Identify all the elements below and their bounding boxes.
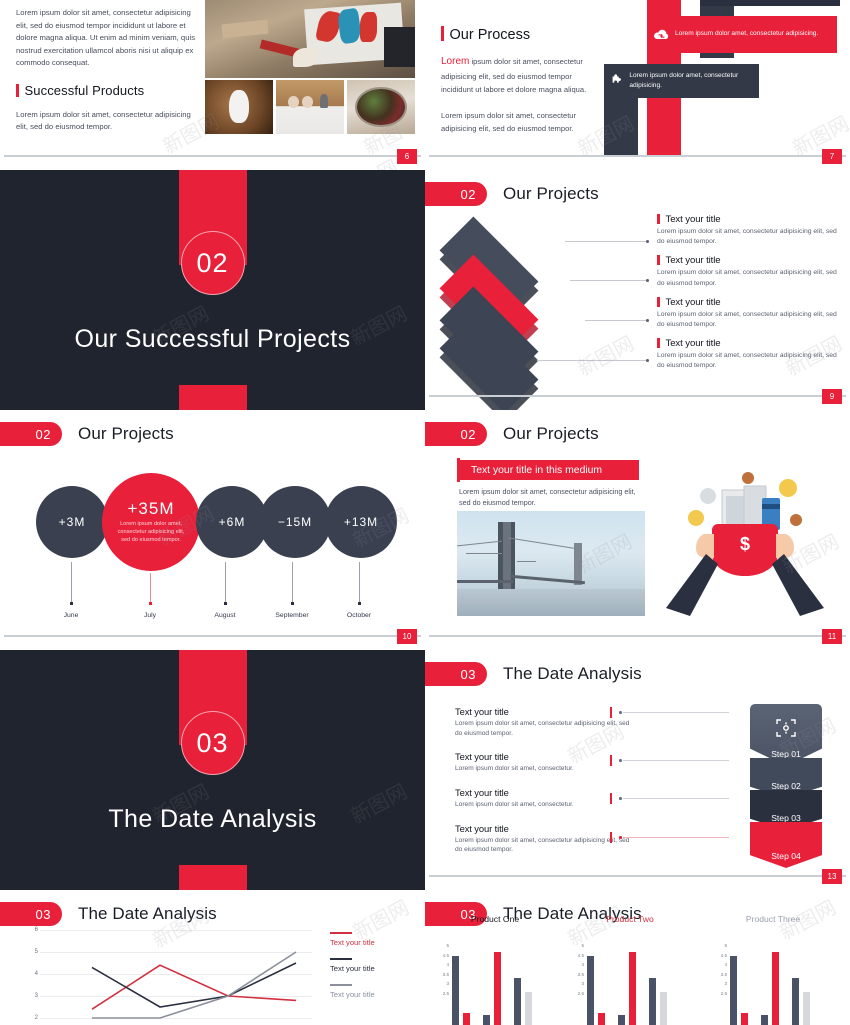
y-tick-label: 5 xyxy=(26,949,38,955)
slide-footer-rule xyxy=(429,155,846,157)
red-accent-bar-icon xyxy=(610,793,612,804)
list-item: Text your title Lorem ipsum dolor sit am… xyxy=(657,338,837,371)
svg-text:$: $ xyxy=(740,534,750,554)
page-number-badge: 7 xyxy=(822,149,842,164)
connector-line xyxy=(537,360,647,361)
bar xyxy=(618,1015,625,1025)
y-tick-label: 2.5 xyxy=(570,992,584,1002)
slide-10-title: Our Projects xyxy=(78,424,174,444)
bar xyxy=(587,956,594,1025)
connector-dot xyxy=(646,319,649,322)
bar xyxy=(494,952,501,1025)
list-item: Text your title Lorem ipsum dolor sit am… xyxy=(657,255,837,288)
connector-line xyxy=(623,798,729,799)
list-item-title: Text your title xyxy=(657,297,837,308)
slide-8-section-divider[interactable]: 02 Our Successful Projects 新图网 新图网 xyxy=(0,170,425,410)
timeline-node: −15M xyxy=(259,486,331,558)
line-chart: 6 5 4 3 2 xyxy=(22,930,312,1025)
puzzle-piece-icon xyxy=(604,73,629,89)
bar xyxy=(483,1015,490,1025)
bar-group-title: Product Two xyxy=(570,914,690,924)
list-item-text: Lorem ipsum dolor sit amet, consectetur … xyxy=(657,227,837,247)
legend-swatch xyxy=(330,984,352,986)
page-number-badge: 13 xyxy=(822,869,842,884)
bar xyxy=(629,952,636,1025)
y-tick-label: 2 xyxy=(26,1015,38,1021)
slide-14-header: 03 The Date Analysis xyxy=(0,902,217,926)
red-accent-bar-icon xyxy=(610,832,612,843)
slide-9-number-pill: 02 xyxy=(425,182,487,206)
slide-15[interactable]: 03 The Date Analysis Product One 5 4.5 4… xyxy=(425,890,850,1025)
slide-13-title: The Date Analysis xyxy=(503,664,642,684)
timeline-dot xyxy=(149,602,152,605)
page-number-badge: 9 xyxy=(822,389,842,404)
section-title: The Date Analysis xyxy=(0,805,425,834)
step-item-label: Step 04 xyxy=(771,851,801,861)
page-number-badge: 11 xyxy=(822,629,842,644)
y-tick-label: 6 xyxy=(26,927,38,933)
timeline-label: June xyxy=(36,612,106,619)
section-number-badge: 02 xyxy=(181,231,245,295)
list-item-title: Text your title xyxy=(455,706,630,717)
timeline-stem xyxy=(150,573,151,602)
page-number-badge: 6 xyxy=(397,149,417,164)
legend-swatch xyxy=(330,932,352,934)
bar xyxy=(463,1013,470,1025)
slide-11[interactable]: 02 Our Projects Text your title in this … xyxy=(425,410,850,650)
y-tick-label: 2.5 xyxy=(713,992,727,1002)
red-accent-bar-icon xyxy=(657,255,660,265)
connector-dot xyxy=(619,836,622,839)
list-item-title: Text your title xyxy=(455,751,630,762)
slide-14-title: The Date Analysis xyxy=(78,904,217,924)
timeline-label: July xyxy=(115,612,185,619)
connector-dot xyxy=(619,797,622,800)
timeline-dot xyxy=(70,602,73,605)
timeline-node-highlight: +35MLorem ipsum dolor amet, consectetur … xyxy=(102,473,200,571)
bars xyxy=(587,944,690,1025)
bar xyxy=(741,1013,748,1025)
list-item: Text your title Lorem ipsum dolor sit am… xyxy=(657,297,837,330)
timeline-stem xyxy=(292,562,293,602)
slide-footer-rule xyxy=(4,155,421,157)
slide-14-number-pill: 03 xyxy=(0,902,62,926)
page-number-badge: 10 xyxy=(397,629,417,644)
connector-line xyxy=(623,837,729,838)
list-item: Text your title Lorem ipsum dolor sit am… xyxy=(455,751,630,774)
step-funnel: Step 01 Step 02 Step 03 Step 04 xyxy=(750,704,822,868)
bar-chart-group-2: Product Two 5 4.5 4 3.5 3 2.5 xyxy=(570,930,690,1025)
slide-9-item-list: Text your title Lorem ipsum dolor sit am… xyxy=(657,214,837,378)
slide-footer-rule xyxy=(429,635,846,637)
section-title: Our Successful Projects xyxy=(0,325,425,354)
slide-7-card-top xyxy=(700,0,840,6)
slide-7-card-red: Lorem ipsum dolor amet, consectetur adip… xyxy=(647,16,837,53)
bar-chart-group-1: Product One 5 4.5 4 3.5 3 2.5 xyxy=(435,930,555,1025)
slide-6-photo-thumbnails xyxy=(205,80,415,134)
slide-6-paragraph-1: Lorem ipsum dolor sit amet, consectetur … xyxy=(16,7,196,70)
slide-11-title: Our Projects xyxy=(503,424,599,444)
list-item-title: Text your title xyxy=(455,787,630,798)
slide-11-number-pill: 02 xyxy=(425,422,487,446)
red-ribbon-bottom xyxy=(179,385,247,410)
bar-group-title: Product Three xyxy=(713,914,833,924)
y-tick-label: 4 xyxy=(26,971,38,977)
list-item-title: Text your title xyxy=(657,255,837,266)
bar xyxy=(660,992,667,1025)
list-item-text: Lorem ipsum dolor sit amet, consectetur … xyxy=(657,268,837,288)
slide-13-header: 03 The Date Analysis xyxy=(425,662,642,686)
thumbnail-desk-photo xyxy=(276,80,344,134)
timeline-label: October xyxy=(324,612,394,619)
list-item: Text your title Lorem ipsum dolor sit am… xyxy=(455,787,630,810)
red-accent-bar-icon xyxy=(657,338,660,348)
thumbnail-bowl-photo xyxy=(347,80,415,134)
step-item-label: Step 01 xyxy=(771,749,801,759)
bar xyxy=(772,952,779,1025)
step-item-label: Step 02 xyxy=(771,781,801,791)
line-chart-series xyxy=(40,930,312,1025)
legend-swatch xyxy=(330,958,352,960)
slide-9[interactable]: 02 Our Projects Text your title Lorem ip… xyxy=(425,170,850,410)
legend-item: Text your title xyxy=(330,932,420,947)
step-item-1[interactable]: Step 01 xyxy=(750,704,822,766)
red-ribbon-bottom xyxy=(179,865,247,890)
bars xyxy=(452,944,555,1025)
slide-13-number-pill: 03 xyxy=(425,662,487,686)
list-item-text: Lorem ipsum dolor sit amet, consectetur. xyxy=(455,800,630,810)
y-axis-labels: 5 4.5 4 3.5 3 2.5 xyxy=(435,944,449,1002)
timeline-dot xyxy=(358,602,361,605)
slide-thumbnail-grid: Lorem ipsum dolor sit amet, consectetur … xyxy=(0,0,850,1025)
bars xyxy=(730,944,833,1025)
slide-7-paragraph-2: Lorem ipsum dolor sit amet, consectetur … xyxy=(441,110,601,136)
legend-item: Text your title xyxy=(330,958,420,973)
focus-target-icon xyxy=(774,716,798,742)
bar xyxy=(649,978,656,1025)
bar xyxy=(514,978,521,1025)
red-accent-bar-icon xyxy=(16,84,19,97)
slide-7-card-dark-text: Lorem ipsum dolor amet, consectetur adip… xyxy=(629,71,759,91)
list-item-title: Text your title xyxy=(657,214,837,225)
slide-6-paragraph-2: Lorem ipsum dolor sit amet, consectetur … xyxy=(16,109,196,134)
legend-label: Text your title xyxy=(330,938,420,947)
list-item-title: Text your title xyxy=(657,338,837,349)
slide-6[interactable]: Lorem ipsum dolor sit amet, consectetur … xyxy=(0,0,425,170)
slide-14[interactable]: 03 The Date Analysis 6 5 4 3 2 T xyxy=(0,890,425,1025)
bar xyxy=(761,1015,768,1025)
slide-7[interactable]: Lorem ipsum dolor amet, consectetur adip… xyxy=(425,0,850,170)
red-accent-bar-icon xyxy=(441,26,444,41)
slide-9-title: Our Projects xyxy=(503,184,599,204)
y-tick-label: 3 xyxy=(26,993,38,999)
hands-holding-money-bag-icon: $ xyxy=(660,458,830,618)
isometric-layers-graphic xyxy=(443,220,608,370)
legend-item: Text your title xyxy=(330,984,420,999)
bar xyxy=(452,956,459,1025)
timeline-label: August xyxy=(190,612,260,619)
bridge-photo xyxy=(457,511,645,616)
list-item-text: Lorem ipsum dolor sit amet, consectetur. xyxy=(455,764,630,774)
timeline-node: +3M xyxy=(36,486,108,558)
slide-13-item-list: Text your title Lorem ipsum dolor sit am… xyxy=(455,706,630,862)
timeline-node: +6M xyxy=(196,486,268,558)
line-chart-legend: Text your title Text your title Text you… xyxy=(330,932,420,1010)
slide-10-number-pill: 02 xyxy=(0,422,62,446)
slide-7-paragraph-1: Lorem ipsum dolor sit amet, consectetur … xyxy=(441,54,601,96)
bar-group-title: Product One xyxy=(435,914,555,924)
slide-7-card-red-text: Lorem ipsum dolor amet, consectetur adip… xyxy=(675,29,818,39)
red-accent-bar-icon xyxy=(657,214,660,224)
timeline-stem xyxy=(225,562,226,602)
connector-line xyxy=(570,280,647,281)
slide-12-section-divider[interactable]: 03 The Date Analysis 新图网 新图网 xyxy=(0,650,425,890)
y-axis-labels: 5 4.5 4 3.5 3 2.5 xyxy=(570,944,584,1002)
slide-6-hero-photo xyxy=(205,0,415,78)
connector-dot xyxy=(646,240,649,243)
list-item-text: Lorem ipsum dolor sit amet, consectetur … xyxy=(455,719,630,739)
slide-footer-rule xyxy=(429,875,846,877)
connector-dot xyxy=(646,359,649,362)
cloud-sync-icon xyxy=(647,28,675,42)
bar xyxy=(598,1013,605,1025)
list-item: Text your title Lorem ipsum dolor sit am… xyxy=(455,823,630,856)
slide-7-card-dark: Lorem ipsum dolor amet, consectetur adip… xyxy=(604,64,759,98)
slide-footer-rule xyxy=(4,635,421,637)
slide-11-banner: Text your title in this medium xyxy=(457,460,639,480)
y-tick-label: 2.5 xyxy=(435,992,449,1002)
red-accent-bar-icon xyxy=(610,755,612,766)
connector-line xyxy=(565,241,647,242)
slide-6-text-column: Lorem ipsum dolor sit amet, consectetur … xyxy=(16,7,196,134)
connector-line xyxy=(585,320,647,321)
connector-line xyxy=(623,712,729,713)
legend-label: Text your title xyxy=(330,964,420,973)
connector-dot xyxy=(619,711,622,714)
timeline-label: September xyxy=(257,612,327,619)
slide-11-paragraph: Lorem ipsum dolor sit amet, consectetur … xyxy=(459,486,649,508)
timeline-stem xyxy=(359,562,360,602)
connector-dot xyxy=(619,759,622,762)
list-item-text: Lorem ipsum dolor sit amet, consectetur … xyxy=(455,836,630,856)
slide-13[interactable]: 03 The Date Analysis Text your title Lor… xyxy=(425,650,850,890)
legend-label: Text your title xyxy=(330,990,420,999)
step-item-4[interactable]: Step 04 xyxy=(750,822,822,868)
bar xyxy=(803,992,810,1025)
red-accent-bar-icon xyxy=(657,297,660,307)
bar xyxy=(525,992,532,1025)
list-item-title: Text your title xyxy=(455,823,630,834)
timeline-node: +13M xyxy=(325,486,397,558)
slide-9-header: 02 Our Projects xyxy=(425,182,599,206)
section-number-badge: 03 xyxy=(181,711,245,775)
bar xyxy=(792,978,799,1025)
timeline-dot xyxy=(224,602,227,605)
list-item-text: Lorem ipsum dolor sit amet, consectetur … xyxy=(657,351,837,371)
y-axis-labels: 5 4.5 4 3.5 3 2.5 xyxy=(713,944,727,1002)
list-item: Text your title Lorem ipsum dolor sit am… xyxy=(455,706,630,739)
thumbnail-mouse-photo xyxy=(205,80,273,134)
bar-chart-group-3: Product Three 5 4.5 4 3.5 3 2.5 xyxy=(713,930,833,1025)
connector-line xyxy=(623,760,729,761)
slide-11-header: 02 Our Projects xyxy=(425,422,599,446)
red-accent-bar-icon xyxy=(610,707,612,718)
step-item-label: Step 03 xyxy=(771,813,801,823)
slide-10-header: 02 Our Projects xyxy=(0,422,174,446)
list-item-text: Lorem ipsum dolor sit amet, consectetur … xyxy=(657,310,837,330)
timeline-stem xyxy=(71,562,72,602)
slide-10[interactable]: 02 Our Projects +3M +35MLorem ipsum dolo… xyxy=(0,410,425,650)
slide-footer-rule xyxy=(429,395,846,397)
slide-6-heading: Successful Products xyxy=(16,83,196,98)
connector-dot xyxy=(646,279,649,282)
bar xyxy=(730,956,737,1025)
slide-7-title: Our Process xyxy=(441,26,530,43)
timeline-dot xyxy=(291,602,294,605)
list-item: Text your title Lorem ipsum dolor sit am… xyxy=(657,214,837,247)
